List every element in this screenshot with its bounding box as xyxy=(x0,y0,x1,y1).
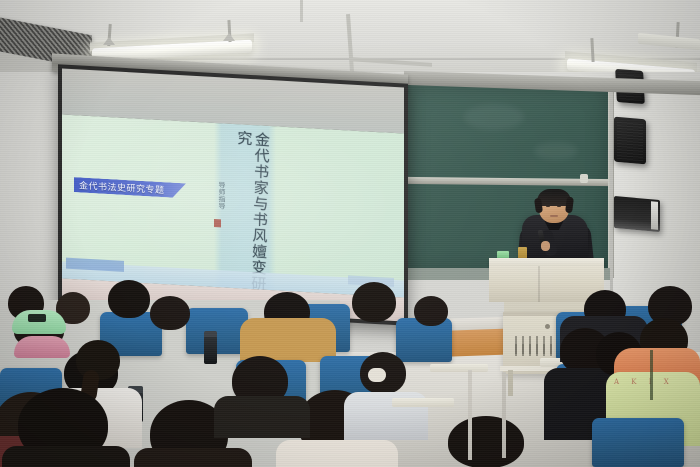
desk-leg xyxy=(502,372,506,458)
presenter-mouth xyxy=(550,215,558,217)
chair xyxy=(186,308,248,354)
audience-body xyxy=(276,440,398,467)
audience-head xyxy=(448,416,524,467)
calligraphy-seal xyxy=(214,219,221,227)
lectern xyxy=(489,266,604,302)
audience-body xyxy=(214,396,310,438)
wall-mounted-unit xyxy=(614,196,660,232)
light-canopy-left-2 xyxy=(223,33,235,41)
slide-banner: 金代书法史研究专题 xyxy=(74,177,186,198)
audience-head xyxy=(108,280,150,318)
lectern-cabinet-knob xyxy=(545,324,550,329)
audience-body xyxy=(2,446,130,467)
chalk-smudge xyxy=(534,142,578,160)
desk xyxy=(392,398,454,407)
jacket-print-text: A K I X xyxy=(614,378,674,386)
pink-cap xyxy=(14,336,70,358)
projection-screen: 金代书法史研究专题 金代书家与书风嬗变研究 导师指导 xyxy=(58,64,408,326)
audience-head xyxy=(414,296,448,326)
ceiling-rod-vertical-far xyxy=(300,0,303,22)
jacket-zipper xyxy=(650,350,653,400)
thermos-cap xyxy=(204,331,217,337)
slide-banner-label: 金代书法史研究专题 xyxy=(74,178,165,196)
audience-head xyxy=(352,282,396,322)
wall-speaker-lower xyxy=(614,117,646,165)
cap-strap xyxy=(28,314,46,322)
presenter-hand xyxy=(541,241,550,251)
slide-vertical-subtitle: 导师指导 xyxy=(212,181,226,210)
eyeglasses-icon xyxy=(542,203,566,210)
lectern-seam xyxy=(538,266,540,302)
chair xyxy=(592,418,684,467)
lecture-hall-photo: 金代书法史研究专题 金代书家与书风嬗变研究 导师指导 xyxy=(0,0,700,467)
wall-unit-strip xyxy=(651,201,658,230)
hair-clip xyxy=(368,368,386,382)
thermos-bottle xyxy=(204,336,217,364)
light-canopy-left-1 xyxy=(103,37,115,45)
chalk-smudge xyxy=(464,104,524,130)
desk xyxy=(430,364,488,372)
presentation-slide: 金代书法史研究专题 金代书家与书风嬗变研究 导师指导 xyxy=(62,114,404,297)
chalk-rail-knob xyxy=(580,174,588,183)
desk-leg xyxy=(468,370,472,460)
lectern-leg-left xyxy=(508,370,513,396)
speaker-grille xyxy=(617,120,643,161)
audience-body xyxy=(134,448,252,467)
audience-head xyxy=(150,296,190,330)
